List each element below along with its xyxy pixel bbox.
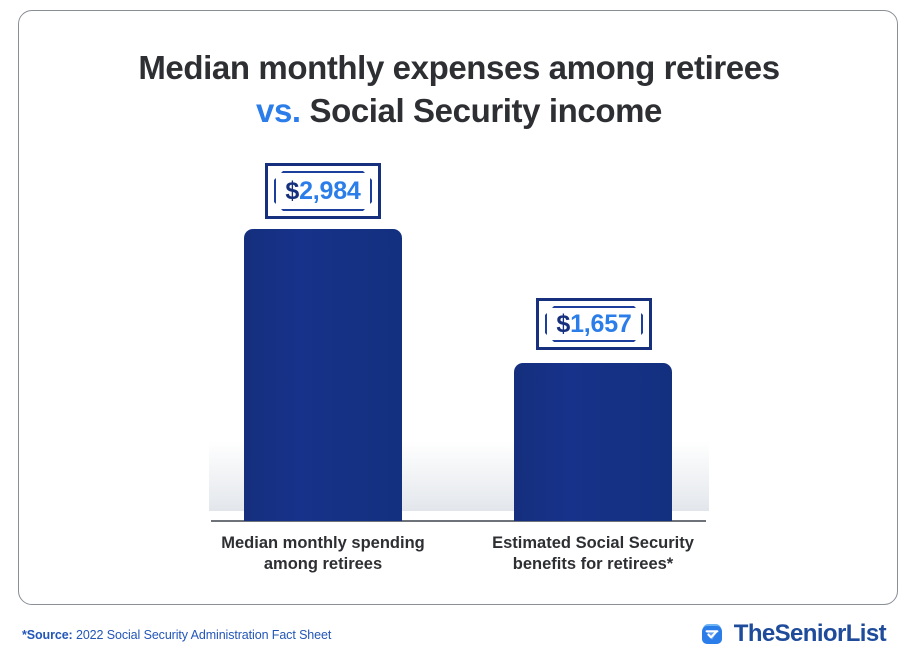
- value-label-text-2: $1,657: [556, 310, 631, 339]
- category-label-2: Estimated Social Security benefits for r…: [469, 533, 717, 576]
- category-label-1: Median monthly spending among retirees: [199, 533, 447, 576]
- chart-card: Median monthly expenses among retirees v…: [18, 10, 898, 605]
- brand-name: TheSeniorList: [734, 620, 886, 648]
- bar-estimated-social-security-benefits: [514, 363, 672, 521]
- source-value: 2022 Social Security Administration Fact…: [73, 628, 332, 642]
- currency-symbol-1: $: [285, 177, 299, 205]
- clipboard-check-icon: [698, 620, 726, 648]
- source-note: *Source: 2022 Social Security Administra…: [22, 628, 331, 642]
- value-number-2: 1,657: [570, 310, 632, 338]
- category-label-2-line2: benefits for retirees*: [513, 555, 673, 573]
- brand-logo: TheSeniorList: [698, 620, 886, 648]
- category-label-2-line1: Estimated Social Security: [492, 534, 694, 552]
- value-number-1: 2,984: [299, 177, 361, 205]
- bar-median-monthly-spending: [244, 229, 402, 521]
- category-label-1-line1: Median monthly spending: [221, 534, 425, 552]
- value-label-box-1: $2,984: [265, 163, 381, 219]
- value-label-box-2: $1,657: [536, 298, 652, 350]
- value-label-text-1: $2,984: [285, 177, 360, 206]
- plot-area: $2,984 $1,657 Median monthly spending am…: [19, 11, 898, 605]
- source-label: *Source:: [22, 628, 73, 642]
- category-label-1-line2: among retirees: [264, 555, 382, 573]
- currency-symbol-2: $: [556, 310, 570, 338]
